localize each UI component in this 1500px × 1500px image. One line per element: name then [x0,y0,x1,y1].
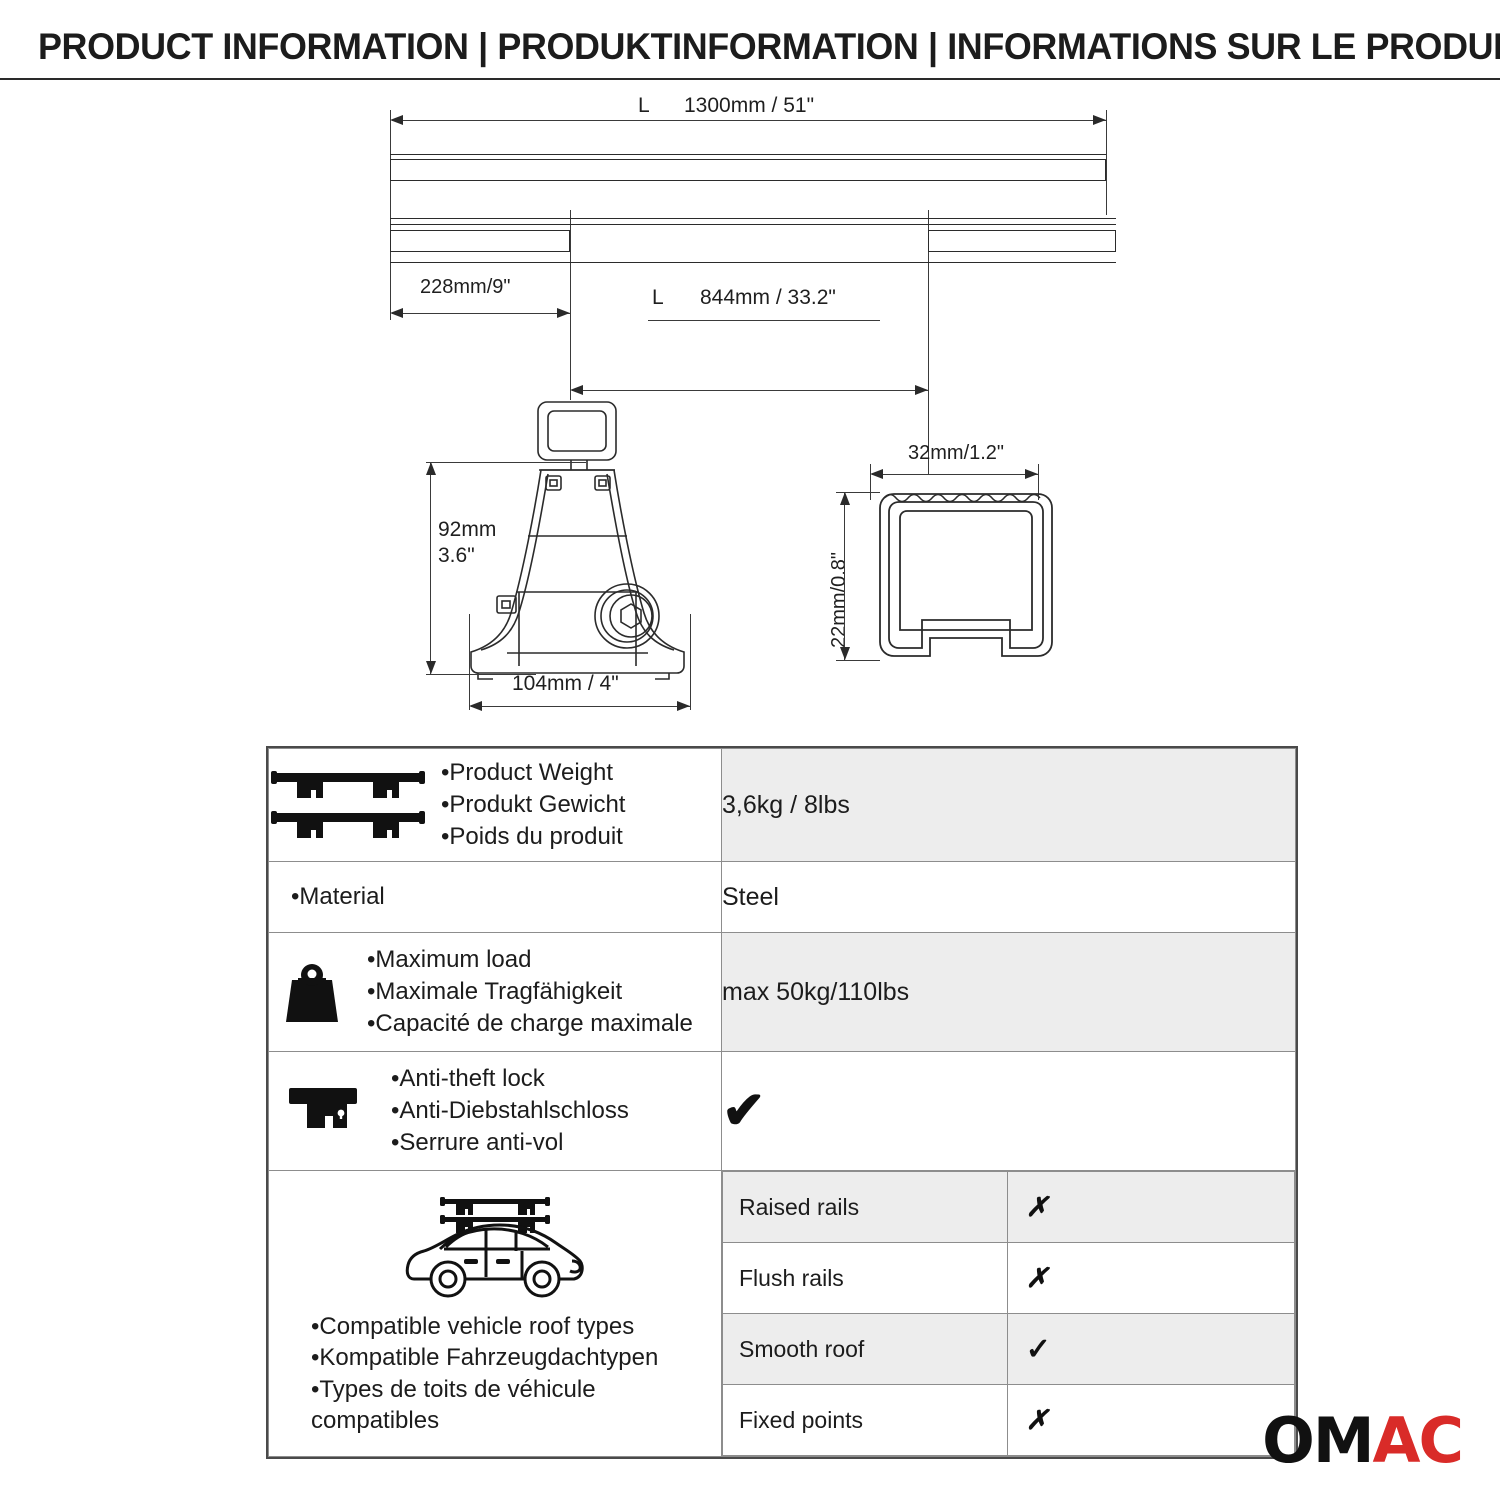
label-text-group-compat: •Compatible vehicle roof types •Kompatib… [269,1311,721,1436]
bar2-hair-3 [390,262,1116,263]
ext-line-footw-left [469,614,470,710]
label-text-group-maximum-load: •Maximum load •Maximale Tragfähigkeit •C… [367,944,693,1040]
roof-types-subtable: Raised rails ✗ Flush rails ✗ Smooth roof [722,1171,1295,1456]
roof-type-support: ✗ [1007,1243,1294,1314]
arrow-right-end-offset [557,308,570,318]
roof-type-row-flush-rails: Flush rails ✗ [723,1243,1295,1314]
dim-line-span [572,390,928,391]
arrow-right-bar-length [1093,115,1106,125]
label-en: •Material [291,881,385,913]
roof-type-name: Flush rails [723,1243,1008,1314]
arrow-left-end-offset [390,308,403,318]
roof-type-row-smooth-roof: Smooth roof ✓ [723,1314,1295,1385]
lock-icon [269,1082,379,1140]
ext-line-right [1106,110,1107,215]
roof-type-name: Fixed points [723,1385,1008,1456]
table-row-compatible-roof-types: •Compatible vehicle roof types •Kompatib… [269,1171,1296,1457]
car-with-racks-icon [269,1191,721,1303]
arrow-right-prof-width [1025,469,1038,479]
logo-part-ac: AC [1373,1404,1462,1477]
dim-line-profile-height [844,492,845,660]
roof-type-name: Raised rails [723,1172,1008,1243]
bar2-foot-right [928,230,1116,252]
label-text-group-anti-theft-lock: •Anti-theft lock •Anti-Diebstahlschloss … [391,1063,629,1159]
weight-icon [269,956,355,1028]
label-de: •Kompatible Fahrzeugdachtypen [311,1342,721,1373]
row-value-maximum-load: max 50kg/110lbs [722,933,1296,1052]
label-en: •Product Weight [441,757,625,789]
technical-drawing: L 1300mm / 51" 228mm/9" L 844mm / 33.2" [0,80,1500,740]
arrow-left-foot-width [469,701,482,711]
row-label-anti-theft-lock: •Anti-theft lock •Anti-Diebstahlschloss … [269,1052,722,1171]
omac-logo: OMAC [1262,1410,1462,1472]
page-title: PRODUCT INFORMATION | PRODUKTINFORMATION… [38,26,1425,68]
roof-type-support: ✓ [1007,1314,1294,1385]
bar2-foot-left [390,230,570,252]
label-de: •Anti-Diebstahlschloss [391,1095,629,1127]
check-icon: ✓ [1026,1333,1051,1366]
logo-part-om: OM [1262,1404,1372,1477]
arrow-left-span [570,385,583,395]
row-value-anti-theft-lock: ✔ [722,1052,1296,1171]
ext-line-footw-right [690,614,691,710]
dim-line-foot-height [430,462,431,674]
label-text-group-product-weight: •Product Weight •Produkt Gewicht •Poids … [441,757,625,853]
label-en: •Anti-theft lock [391,1063,629,1095]
dim-line-bar-length [392,120,1106,121]
arrow-left-prof-width [870,469,883,479]
roof-type-name: Smooth roof [723,1314,1008,1385]
label-fr-1: •Types de toits de véhicule [311,1374,721,1405]
bar-top-view [390,159,1106,181]
bar2-hair-2 [390,224,1116,225]
foot-width-label: 104mm / 4" [512,672,619,696]
foot-height-line1: 92mm [438,518,496,542]
arrow-up-foot-height [426,462,436,475]
dim-line-profile-width [872,474,1038,475]
row-label-material: •Material [269,862,722,933]
label-fr-2: compatibles [311,1405,721,1436]
table-row-anti-theft-lock: •Anti-theft lock •Anti-Diebstahlschloss … [269,1052,1296,1171]
dim-line-end-offset [392,313,570,314]
bar-length-value: 1300mm / 51" [684,94,814,118]
dim-line-foot-width [471,706,690,707]
label-de: •Maximale Tragfähigkeit [367,976,693,1008]
table-row-product-weight: •Product Weight •Produkt Gewicht •Poids … [269,749,1296,862]
label-fr: •Capacité de charge maximale [367,1008,693,1040]
ext-line-2-mid [570,210,571,400]
label-fr: •Poids du produit [441,821,625,853]
arrow-down-foot-height [426,661,436,674]
span-prefix: L [652,286,664,310]
arrow-up-prof-height [840,492,850,505]
bar-length-prefix: L [638,94,650,118]
table-row-maximum-load: •Maximum load •Maximale Tragfähigkeit •C… [269,933,1296,1052]
arrow-right-span [915,385,928,395]
profile-width-label: 32mm/1.2" [908,442,1004,465]
cross-icon: ✗ [1026,1192,1049,1222]
ext-line-2-left [390,210,391,320]
roof-type-row-fixed-points: Fixed points ✗ [723,1385,1295,1456]
arrow-down-prof-height [840,647,850,660]
label-en: •Compatible vehicle roof types [311,1311,721,1342]
label-en: •Maximum load [367,944,693,976]
cross-icon: ✗ [1026,1405,1049,1435]
table-row-material: •Material Steel [269,862,1296,933]
roof-type-row-raised-rails: Raised rails ✗ [723,1172,1295,1243]
crossbars-icon [269,765,429,845]
row-value-material: Steel [722,862,1296,933]
row-value-product-weight: 3,6kg / 8lbs [722,749,1296,862]
label-fr: •Serrure anti-vol [391,1127,629,1159]
arrow-left-bar-length [390,115,403,125]
label-de: •Produkt Gewicht [441,789,625,821]
foot-height-line2: 3.6" [438,544,475,568]
row-label-maximum-load: •Maximum load •Maximale Tragfähigkeit •C… [269,933,722,1052]
arrow-right-foot-width [677,701,690,711]
bar-cross-section [862,480,1072,680]
span-underline [648,320,880,321]
end-offset-label: 228mm/9" [420,276,510,299]
ext-line-foot-top [426,462,586,463]
roof-types-subtable-cell: Raised rails ✗ Flush rails ✗ Smooth roof [722,1171,1296,1457]
product-spec-table: •Product Weight •Produkt Gewicht •Poids … [266,746,1298,1459]
cross-icon: ✗ [1026,1263,1049,1293]
profile-height-label: 22mm/0.8" [828,552,851,648]
row-label-product-weight: •Product Weight •Produkt Gewicht •Poids … [269,749,722,862]
roof-type-support: ✗ [1007,1172,1294,1243]
label-text-group-material: •Material [269,881,385,913]
bar2-hair-1 [390,218,1116,219]
span-value: 844mm / 33.2" [700,286,836,310]
bar-top-edge [390,154,1106,155]
checkmark-icon: ✔ [722,1082,766,1140]
row-label-compatible-roof-types: •Compatible vehicle roof types •Kompatib… [269,1171,722,1457]
roof-type-support: ✗ [1007,1385,1294,1456]
